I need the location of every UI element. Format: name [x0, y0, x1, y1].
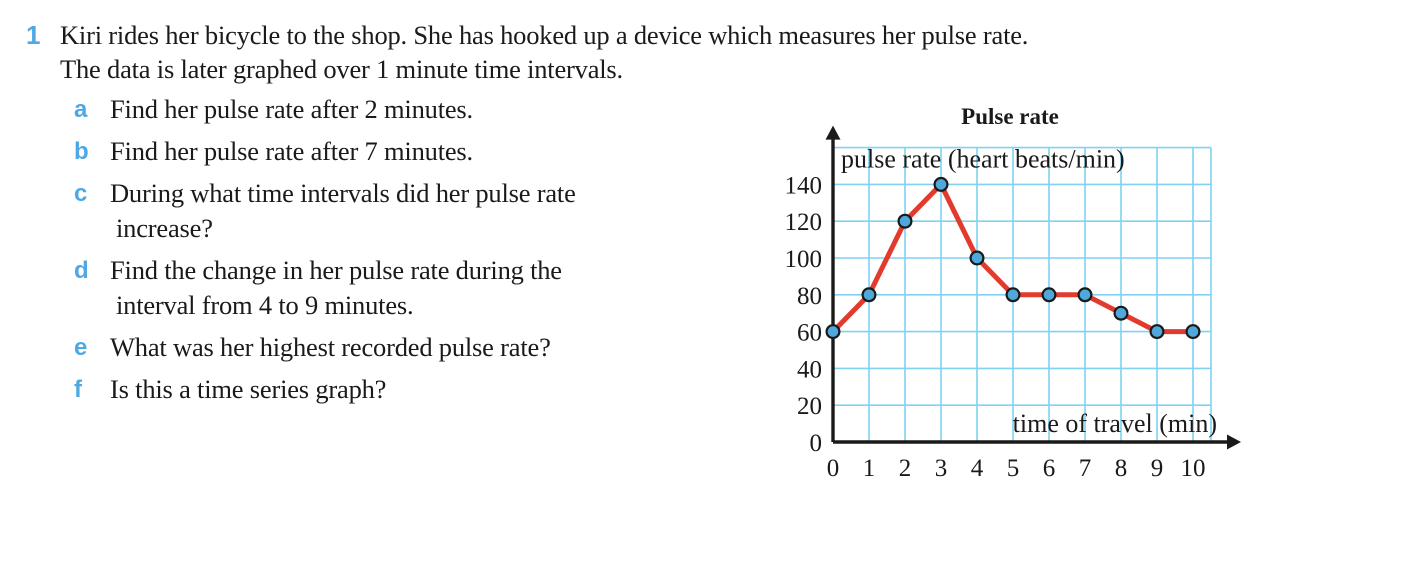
x-tick-2: 2	[899, 455, 912, 482]
data-point-3-140	[935, 178, 948, 191]
y-tick-0: 0	[810, 430, 823, 457]
sub-question-c-line-1: During what time intervals did her pulse…	[110, 176, 786, 211]
y-tick-60: 60	[797, 320, 822, 347]
sub-question-text-b: Find her pulse rate after 7 minutes.	[110, 134, 786, 169]
sub-question-letter-c: c	[74, 176, 110, 211]
sub-question-text-c: During what time intervals did her pulse…	[110, 176, 786, 246]
data-point-7-80	[1079, 288, 1092, 301]
x-tick-5: 5	[1007, 455, 1020, 482]
question-block: 1 Kiri rides her bicycle to the shop. Sh…	[26, 18, 786, 414]
chart-x-axis-label: time of travel (min)	[1013, 409, 1217, 438]
data-point-8-70	[1115, 307, 1128, 320]
sub-question-text-a: Find her pulse rate after 2 minutes.	[110, 92, 786, 127]
data-point-2-120	[899, 215, 912, 228]
sub-question-text-e: What was her highest recorded pulse rate…	[110, 330, 786, 365]
sub-question-a: a Find her pulse rate after 2 minutes.	[74, 92, 786, 127]
data-point-6-80	[1043, 288, 1056, 301]
chart-x-tick-labels: 012345678910	[827, 455, 1206, 482]
sub-question-d: d Find the change in her pulse rate duri…	[74, 253, 786, 323]
sub-question-a-line-1: Find her pulse rate after 2 minutes.	[110, 92, 786, 127]
sub-question-e-line-1: What was her highest recorded pulse rate…	[110, 330, 786, 365]
sub-question-list: a Find her pulse rate after 2 minutes. b…	[74, 92, 786, 407]
data-point-4-100	[971, 252, 984, 265]
data-point-10-60	[1187, 325, 1200, 338]
sub-question-d-line-2: interval from 4 to 9 minutes.	[110, 288, 786, 323]
question-stem-line-1: Kiri rides her bicycle to the shop. She …	[60, 18, 1028, 52]
sub-question-letter-a: a	[74, 92, 110, 127]
chart-y-tick-labels: 020406080100120140	[785, 172, 823, 457]
sub-question-b-line-1: Find her pulse rate after 7 minutes.	[110, 134, 786, 169]
x-tick-10: 10	[1181, 455, 1206, 482]
data-point-0-60	[827, 325, 840, 338]
sub-question-letter-d: d	[74, 253, 110, 288]
y-tick-80: 80	[797, 283, 822, 310]
sub-question-letter-b: b	[74, 134, 110, 169]
x-tick-6: 6	[1043, 455, 1056, 482]
y-tick-120: 120	[785, 209, 823, 236]
x-tick-8: 8	[1115, 455, 1128, 482]
sub-question-f-line-1: Is this a time series graph?	[110, 372, 786, 407]
question-stem-line-2: The data is later graphed over 1 minute …	[60, 52, 1028, 86]
sub-question-f: f Is this a time series graph?	[74, 372, 786, 407]
data-point-9-60	[1151, 325, 1164, 338]
x-tick-7: 7	[1079, 455, 1092, 482]
sub-question-c: c During what time intervals did her pul…	[74, 176, 786, 246]
y-tick-20: 20	[797, 393, 822, 420]
x-tick-9: 9	[1151, 455, 1164, 482]
data-point-5-80	[1007, 288, 1020, 301]
x-tick-0: 0	[827, 455, 840, 482]
y-tick-40: 40	[797, 356, 822, 383]
sub-question-text-d: Find the change in her pulse rate during…	[110, 253, 786, 323]
x-tick-3: 3	[935, 455, 948, 482]
sub-question-letter-f: f	[74, 372, 110, 407]
sub-question-letter-e: e	[74, 330, 110, 365]
question-number: 1	[26, 18, 60, 52]
question-stem: Kiri rides her bicycle to the shop. She …	[60, 18, 1028, 86]
chart-canvas: 020406080100120140 012345678910 pulse ra…	[770, 104, 1250, 484]
y-tick-100: 100	[785, 246, 823, 273]
x-tick-1: 1	[863, 455, 876, 482]
data-point-1-80	[863, 288, 876, 301]
chart-y-axis-label: pulse rate (heart beats/min)	[841, 145, 1125, 174]
sub-question-text-f: Is this a time series graph?	[110, 372, 786, 407]
worksheet-page: 1 Kiri rides her bicycle to the shop. Sh…	[0, 0, 1412, 570]
question-stem-row: 1 Kiri rides her bicycle to the shop. Sh…	[26, 18, 786, 86]
pulse-rate-chart: Pulse rate 020406080100120140 0123456789…	[770, 104, 1250, 484]
x-tick-4: 4	[971, 455, 984, 482]
sub-question-c-line-2: increase?	[110, 211, 786, 246]
sub-question-b: b Find her pulse rate after 7 minutes.	[74, 134, 786, 169]
sub-question-d-line-1: Find the change in her pulse rate during…	[110, 253, 786, 288]
y-tick-140: 140	[785, 172, 823, 199]
chart-axes	[826, 126, 1242, 450]
sub-question-e: e What was her highest recorded pulse ra…	[74, 330, 786, 365]
